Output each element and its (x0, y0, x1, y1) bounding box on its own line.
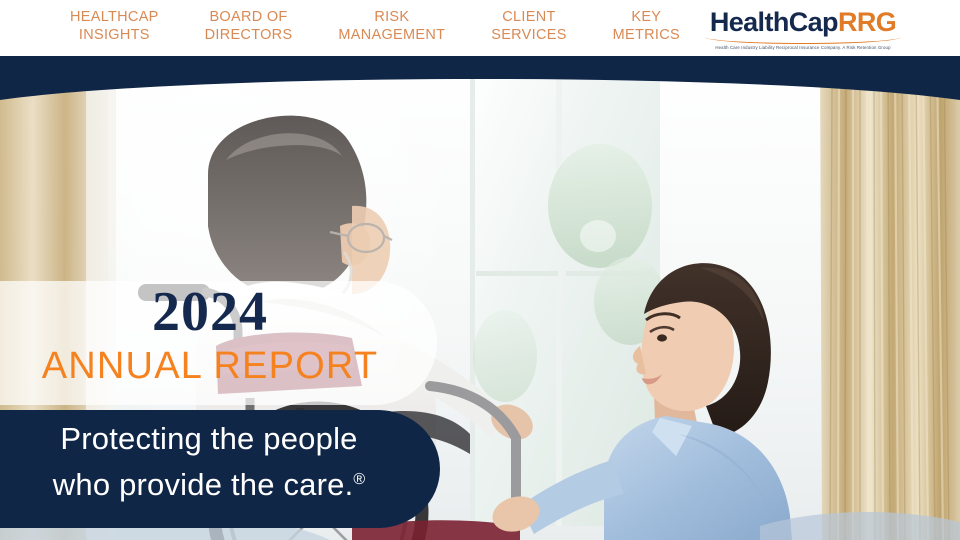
nav-item-healthcap-insights[interactable]: HEALTHCAP INSIGHTS (70, 8, 159, 44)
tagline-line-2: who provide the care. (53, 467, 354, 502)
nav-item-key-metrics[interactable]: KEY METRICS (613, 8, 680, 44)
logo-tagline: Health Care Industry Liability Reciproca… (698, 45, 908, 51)
brand-logo[interactable]: HealthCapRRG Health Care Industry Liabil… (698, 8, 908, 51)
tagline-line-1: Protecting the people (60, 421, 357, 456)
registered-trademark-mark: ® (353, 471, 365, 488)
main-navigation: HEALTHCAP INSIGHTS BOARD OF DIRECTORS RI… (70, 8, 680, 52)
report-year: 2024 (0, 283, 420, 341)
logo-wordmark: HealthCapRRG (698, 8, 908, 37)
nav-item-board-of-directors[interactable]: BOARD OF DIRECTORS (205, 8, 293, 44)
company-tagline: Protecting the people who provide the ca… (0, 418, 418, 505)
report-label: ANNUAL REPORT (0, 344, 420, 388)
annual-report-hero-page: HEALTHCAP INSIGHTS BOARD OF DIRECTORS RI… (0, 0, 960, 540)
site-header: HEALTHCAP INSIGHTS BOARD OF DIRECTORS RI… (0, 0, 960, 56)
logo-accent-text: RRG (838, 7, 896, 37)
nav-item-risk-management[interactable]: RISK MANAGEMENT (338, 8, 445, 44)
logo-primary-text: HealthCap (710, 7, 838, 37)
nav-item-client-services[interactable]: CLIENT SERVICES (491, 8, 566, 44)
logo-swoosh-icon (705, 37, 901, 44)
